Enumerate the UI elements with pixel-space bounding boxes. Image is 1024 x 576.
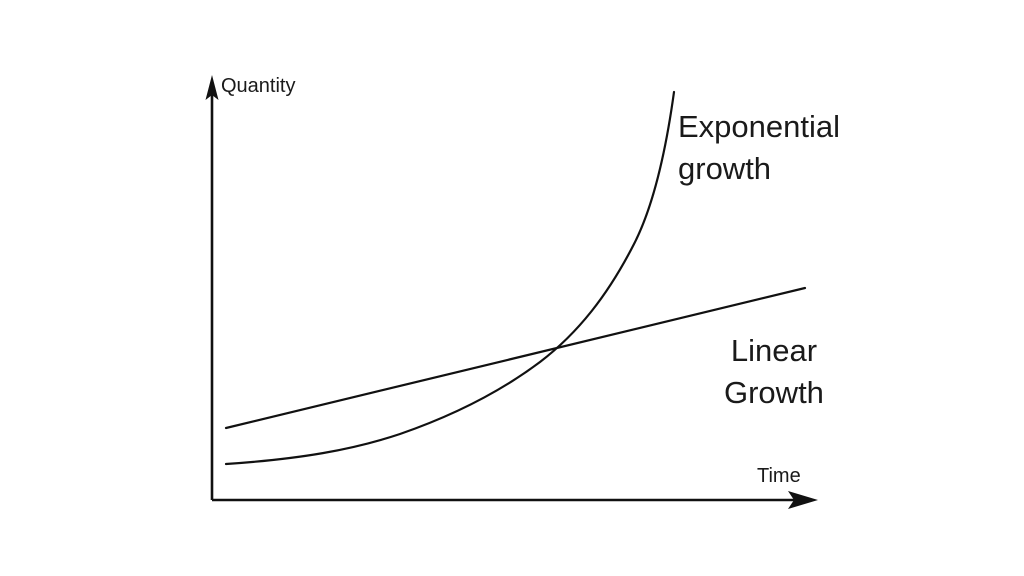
growth-comparison-chart: Quantity Time Exponential growth Linear … — [0, 0, 1024, 576]
linear-growth-annotation: Linear Growth — [724, 330, 824, 414]
chart-plot-area — [0, 0, 1024, 576]
exponential-growth-annotation: Exponential growth — [678, 106, 840, 190]
x-axis-label: Time — [757, 465, 801, 488]
y-axis-label: Quantity — [221, 75, 295, 98]
linear-growth-curve — [226, 288, 805, 428]
exponential-growth-curve — [226, 92, 674, 464]
